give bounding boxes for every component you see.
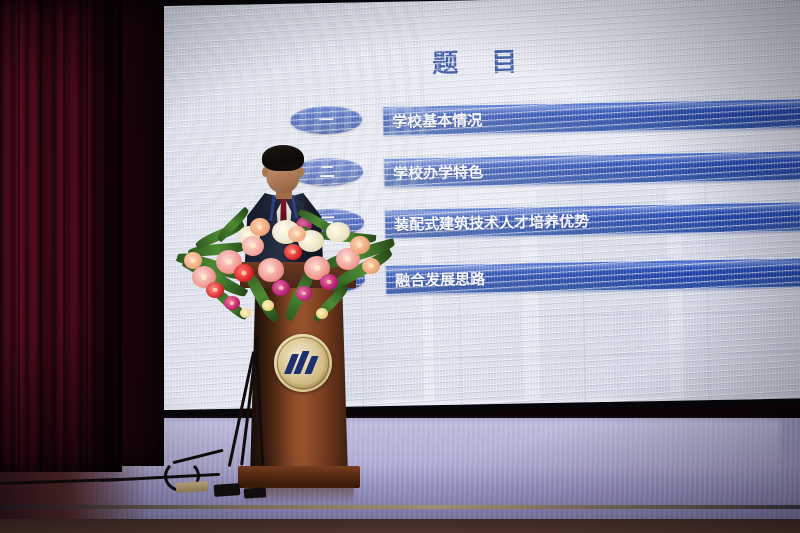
slide-title: 题 目: [432, 41, 530, 80]
podium-base: [238, 466, 360, 488]
slide-row-1-bar: 学校基本情况: [383, 97, 800, 136]
slide-row-1-label: 学校基本情况: [383, 109, 482, 132]
slide-row-2-label: 学校办学特色: [384, 161, 483, 184]
slide-row-4-bar: 融合发展思路: [386, 256, 800, 295]
stage-front-edge: [0, 519, 800, 533]
screen-surface: 题 目 一 学校基本情况 二 学校办学特色 三: [113, 0, 800, 411]
flower-arrangement: [176, 214, 392, 332]
photo-stage-scene: 题 目 一 学校基本情况 二 学校办学特色 三: [0, 0, 800, 533]
slide-row-3-bar: 装配式建筑技术人才培养优势: [385, 200, 800, 239]
slide-row-1-badge: 一: [290, 105, 363, 134]
school-crest-icon: [274, 334, 332, 392]
slide-row-4-label: 融合发展思路: [386, 268, 485, 291]
stage-edge-trim: [0, 505, 800, 509]
crest-mark: [288, 350, 318, 374]
slide-row-3-label: 装配式建筑技术人才培养优势: [385, 210, 589, 235]
speaker-ear-right: [298, 167, 304, 177]
stage-curtain-left: [0, 0, 122, 472]
power-adapter: [214, 483, 241, 497]
slide-row-2-bar: 学校办学特色: [384, 149, 800, 188]
speaker-hair: [262, 145, 304, 171]
led-screen: 题 目 一 学校基本情况 二 学校办学特色 三: [110, 0, 800, 422]
presentation-slide: 题 目 一 学校基本情况 二 学校办学特色 三: [113, 0, 800, 411]
slide-row-1: 一 学校基本情况: [290, 107, 291, 137]
cable-connector: [244, 487, 266, 498]
screen-light-reflection: [120, 420, 780, 490]
